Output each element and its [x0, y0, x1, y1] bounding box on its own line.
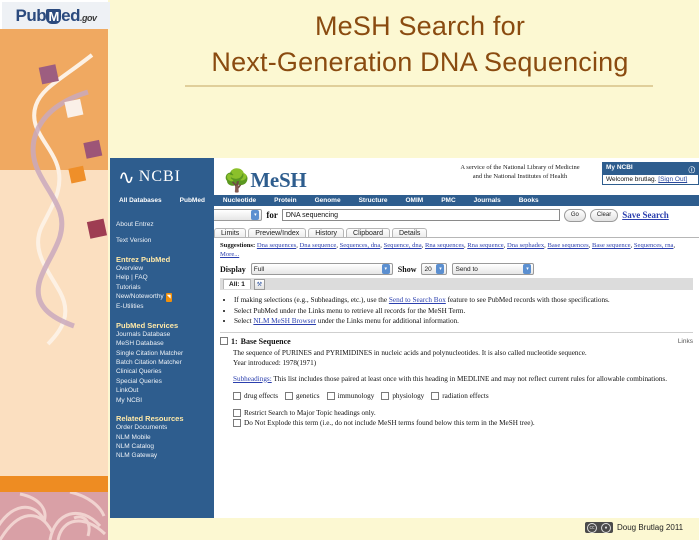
search-input[interactable]: DNA sequencing	[282, 209, 560, 221]
record-options: Restrict Search to Major Topic headings …	[233, 408, 693, 429]
sidebar-item-journals-database[interactable]: Journals Database	[116, 330, 214, 339]
chevron-updown-icon: ▾	[251, 210, 259, 220]
subheadings-link[interactable]: Subheadings:	[233, 375, 272, 383]
service-tagline-line1: A service of the National Library of Med…	[410, 163, 630, 172]
for-label: for	[266, 210, 278, 220]
decorative-left-column	[0, 0, 110, 540]
restrict-label: Restrict Search to Major Topic headings …	[244, 408, 376, 419]
tab-bar: LimitsPreview/IndexHistoryClipboardDetai…	[214, 224, 699, 238]
record-definition: The sequence of PURINES and PYRIMIDINES …	[233, 348, 693, 358]
cc-person-icon: ●	[601, 523, 611, 533]
service-tagline-line2: and the National Institutes of Health	[410, 172, 630, 181]
deco-square	[83, 140, 102, 159]
sidebar-item-about-entrez[interactable]: About Entrez	[116, 220, 214, 229]
sidebar-item-single-citation-matcher[interactable]: Single Citation Matcher	[116, 349, 214, 358]
link-send-to-search-box[interactable]: Send to Search Box	[389, 296, 446, 304]
dna-ribbon-graphic	[0, 30, 110, 510]
record-checkbox[interactable]	[220, 337, 228, 345]
record-links-menu[interactable]: Links	[678, 338, 693, 345]
display-label: Display	[220, 265, 246, 274]
search-input-value: DNA sequencing	[286, 212, 338, 219]
tree-icon: 🌳	[223, 171, 250, 193]
send-to-select[interactable]: Send to ▾	[452, 263, 534, 275]
subheading-checkbox-row: drug effectsgeneticsimmunologyphysiology…	[233, 392, 693, 400]
left-sidebar: About Entrez Text Version Entrez PubMedO…	[110, 206, 214, 518]
sidebar-groups: Entrez PubMedOverviewHelp | FAQTutorials…	[116, 255, 214, 461]
pubmed-book-icon: M	[46, 9, 61, 24]
mesh-logo: 🌳 MeSH	[223, 161, 306, 193]
sidebar-group-entrez-pubmed: Entrez PubMed	[116, 255, 214, 264]
list-item: Select NLM MeSH Browser under the Links …	[234, 316, 693, 327]
suggestion-link-base-sequence[interactable]: Base sequence	[592, 242, 631, 249]
sidebar-item-text-version[interactable]: Text Version	[116, 236, 214, 245]
subheading-option-physiology[interactable]: physiology	[381, 392, 424, 400]
deco-square	[64, 99, 83, 118]
my-ncbi-box: My NCBI ⓘ Welcome brutlag. [Sign Out]	[602, 162, 699, 185]
sidebar-group-related-resources: Related Resources	[116, 414, 214, 423]
deco-square	[87, 219, 107, 239]
mesh-wordmark: MeSH	[250, 168, 306, 193]
my-ncbi-welcome-text: Welcome brutlag.	[606, 176, 656, 183]
nav-item-genome[interactable]: Genome	[306, 197, 350, 204]
show-count-select[interactable]: 20 ▾	[421, 263, 447, 275]
suggestion-link-dna-sephadex[interactable]: Dna sephadex	[507, 242, 544, 249]
suggestion-link-dna-sequences[interactable]: Dna sequences	[257, 242, 296, 249]
nav-item-nucleotide[interactable]: Nucleotide	[214, 197, 265, 204]
top-nav-bar: All DatabasesPubMedNucleotideProteinGeno…	[110, 195, 699, 206]
subheading-checkbox[interactable]	[327, 392, 335, 400]
sidebar-item-order-documents[interactable]: Order Documents	[116, 423, 214, 432]
chevron-updown-icon: ▾	[382, 264, 390, 274]
subheading-label: radiation effects	[442, 392, 488, 400]
send-to-value: Send to	[455, 266, 477, 273]
results-tab-bar: All: 1 ⚒	[220, 278, 693, 290]
subheading-option-radiation-effects[interactable]: radiation effects	[431, 392, 488, 400]
restrict-checkbox[interactable]	[233, 409, 241, 417]
pubmed-logo: PubMed.gov	[2, 2, 110, 29]
subheading-checkbox[interactable]	[431, 392, 439, 400]
ncbi-swirl-icon: ∿	[118, 167, 135, 187]
suggestion-link-sequences-dna[interactable]: Sequences, dna	[340, 242, 381, 249]
save-search-link[interactable]: Save Search	[622, 210, 669, 220]
site-header: ∿ NCBI 🌳 MeSH A service of the National …	[110, 158, 699, 195]
suggestion-link-sequence-dna[interactable]: Sequence, dna	[384, 242, 422, 249]
do-not-explode-option[interactable]: Do Not Explode this term (i.e., do not i…	[233, 418, 693, 429]
suggestion-link-rna-sequence[interactable]: Rna sequence	[467, 242, 503, 249]
ncbi-mesh-browser-screenshot: ∿ NCBI 🌳 MeSH A service of the National …	[110, 158, 699, 518]
restrict-major-topic-option[interactable]: Restrict Search to Major Topic headings …	[233, 408, 693, 419]
clear-button[interactable]: Clear	[590, 209, 618, 222]
suggestions-label: Suggestions:	[220, 242, 255, 249]
do-not-explode-checkbox[interactable]	[233, 419, 241, 427]
suggestion-link-more-[interactable]: More...	[220, 251, 239, 258]
nav-item-books[interactable]: Books	[510, 197, 548, 204]
record-title: Base Sequence	[241, 337, 291, 346]
chevron-updown-icon: ▾	[523, 264, 531, 274]
nav-item-structure[interactable]: Structure	[350, 197, 397, 204]
subheadings-note: Subheadings: This list includes those pa…	[233, 374, 693, 384]
subheading-checkbox[interactable]	[285, 392, 293, 400]
suggestions-row: Suggestions: Dna sequences, Dna sequence…	[220, 241, 693, 259]
subheading-label: drug effects	[244, 392, 278, 400]
subheadings-note-text: This list includes those paired at least…	[272, 375, 667, 383]
nav-item-journals[interactable]: Journals	[465, 197, 510, 204]
content-divider	[220, 332, 693, 333]
deco-square	[39, 64, 59, 84]
pubmed-logo-gov: .gov	[80, 13, 97, 23]
subheading-option-drug-effects[interactable]: drug effects	[233, 392, 278, 400]
slide-canvas: PubMed.gov MeSH Search for Next-Generati…	[0, 0, 699, 540]
title-underline	[185, 85, 653, 87]
nav-item-pubmed[interactable]: PubMed	[171, 197, 214, 204]
go-button[interactable]: Go	[564, 209, 586, 222]
settings-wrench-icon[interactable]: ⚒	[254, 279, 265, 290]
main-content: Suggestions: Dna sequences, Dna sequence…	[214, 238, 699, 518]
nav-item-pmc[interactable]: PMC	[432, 197, 464, 204]
display-select[interactable]: Full ▾	[251, 263, 393, 275]
sign-out-link[interactable]: [Sign Out]	[658, 176, 687, 183]
rss-icon[interactable]: ◥	[166, 293, 172, 302]
record-number: 1:	[231, 337, 238, 346]
my-ncbi-header[interactable]: My NCBI ⓘ	[603, 163, 698, 175]
my-ncbi-title: My NCBI	[606, 164, 633, 174]
sidebar-group-pubmed-services: PubMed Services	[116, 321, 214, 330]
subheading-checkbox[interactable]	[233, 392, 241, 400]
creative-commons-icon: cc ●	[585, 522, 613, 533]
sidebar-item-nlm-mobile[interactable]: NLM Mobile	[116, 433, 214, 442]
my-ncbi-welcome: Welcome brutlag. [Sign Out]	[603, 175, 698, 184]
pubmed-logo-post: ed	[61, 6, 80, 26]
chevron-updown-icon: ▾	[436, 264, 444, 274]
sidebar-item-mesh-database[interactable]: MeSH Database	[116, 339, 214, 348]
record-body: The sequence of PURINES and PYRIMIDINES …	[233, 348, 693, 368]
ncbi-logo[interactable]: ∿ NCBI	[110, 158, 214, 195]
sidebar-item-clinical-queries[interactable]: Clinical Queries	[116, 367, 214, 376]
subheading-label: immunology	[338, 392, 375, 400]
record-header: 1: Base Sequence Links	[220, 337, 693, 346]
deco-square	[68, 166, 86, 184]
subheading-checkbox[interactable]	[381, 392, 389, 400]
cc-circle-icon: cc	[587, 523, 597, 533]
subheading-label: genetics	[296, 392, 320, 400]
sidebar-item-e-utilities[interactable]: E-Utilities	[116, 302, 214, 311]
display-controls: Display Full ▾ Show 20 ▾ Send to ▾	[220, 263, 693, 275]
credit-line: cc ● Doug Brutlag 2011	[585, 522, 683, 533]
sidebar-item-my-ncbi[interactable]: My NCBI	[116, 396, 214, 405]
sidebar-item-nlm-gateway[interactable]: NLM Gateway	[116, 451, 214, 460]
subheading-label: physiology	[392, 392, 424, 400]
pubmed-logo-pre: Pub	[16, 6, 47, 26]
suggestion-link-dna-sequence[interactable]: Dna sequence	[300, 242, 337, 249]
nav-item-omim[interactable]: OMIM	[396, 197, 432, 204]
service-tagline: A service of the National Library of Med…	[410, 163, 630, 181]
do-not-explode-label: Do Not Explode this term (i.e., do not i…	[244, 418, 535, 429]
sidebar-item-batch-citation-matcher[interactable]: Batch Citation Matcher	[116, 358, 214, 367]
list-item: Select PubMed under the Links menu to re…	[234, 306, 693, 317]
sidebar-item-new-noteworthy[interactable]: New/Noteworthy◥	[116, 292, 214, 302]
list-item: If making selections (e.g., Subheadings,…	[234, 295, 693, 306]
suggestion-link-base-sequences[interactable]: Base sequences	[547, 242, 588, 249]
page-title-line2: Next-Generation DNA Sequencing	[150, 44, 690, 80]
tab-all-results[interactable]: All: 1	[223, 279, 251, 289]
sidebar-item-overview[interactable]: Overview	[116, 264, 214, 273]
subheading-option-immunology[interactable]: immunology	[327, 392, 375, 400]
suggestion-link-sequences-rna[interactable]: Sequences, rna	[634, 242, 674, 249]
nav-item-protein[interactable]: Protein	[265, 197, 305, 204]
ncbi-wordmark: NCBI	[139, 168, 181, 186]
sidebar-item-help-faq[interactable]: Help | FAQ	[116, 273, 214, 282]
instructions-list: If making selections (e.g., Subheadings,…	[220, 295, 693, 327]
suggestion-links: Dna sequences, Dna sequence, Sequences, …	[220, 242, 675, 258]
show-label: Show	[398, 265, 417, 274]
display-select-value: Full	[254, 266, 264, 273]
suggestion-link-rna-sequences[interactable]: Rna sequences	[425, 242, 464, 249]
sidebar-item-nlm-catalog[interactable]: NLM Catalog	[116, 442, 214, 451]
subheading-option-genetics[interactable]: genetics	[285, 392, 320, 400]
sidebar-item-special-queries[interactable]: Special Queries	[116, 377, 214, 386]
record-year-introduced: Year introduced: 1978(1971)	[233, 358, 693, 368]
page-title: MeSH Search for Next-Generation DNA Sequ…	[150, 8, 690, 80]
credit-text: Doug Brutlag 2011	[617, 523, 683, 532]
show-count-value: 20	[424, 266, 431, 273]
sidebar-item-tutorials[interactable]: Tutorials	[116, 283, 214, 292]
sidebar-item-linkout[interactable]: LinkOut	[116, 386, 214, 395]
page-title-line1: MeSH Search for	[150, 8, 690, 44]
nav-item-all-databases[interactable]: All Databases	[110, 197, 171, 204]
my-ncbi-help-icon[interactable]: ⓘ	[689, 164, 696, 174]
link-nlm-mesh-browser[interactable]: NLM MeSH Browser	[253, 317, 316, 325]
